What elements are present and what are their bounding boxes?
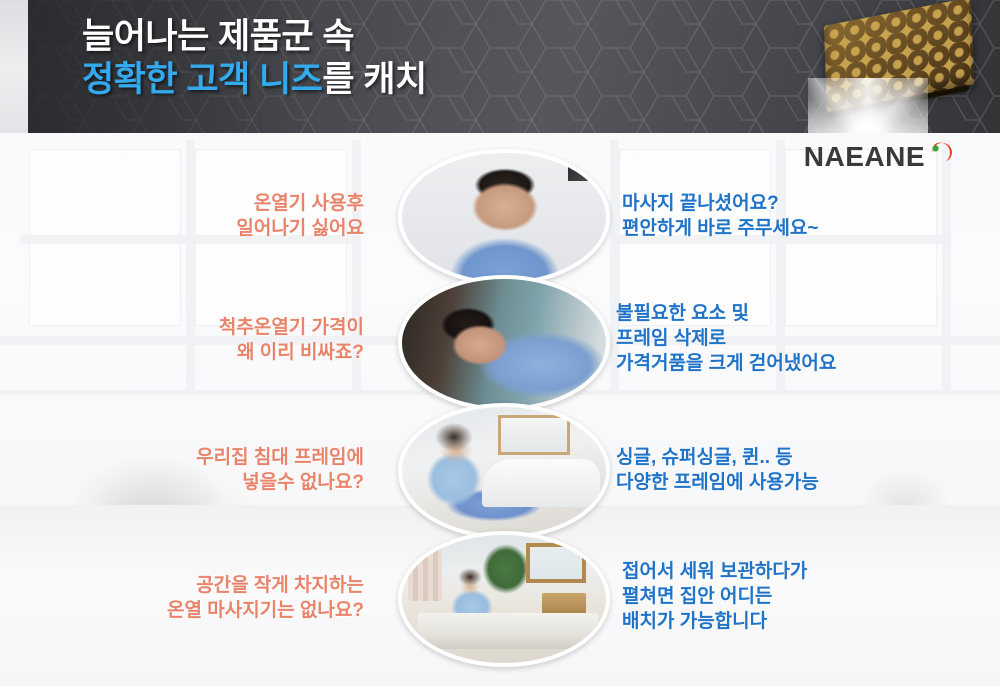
- photo-oval-3: [398, 403, 610, 539]
- question-text-4: 공간을 작게 차지하는 온열 마사지기는 없나요?: [44, 573, 364, 623]
- answer-text-3: 싱글, 슈퍼싱글, 퀸.. 등 다양한 프레임에 사용가능: [616, 445, 956, 495]
- product-mattress-top: [824, 0, 974, 113]
- header-banner: 늘어나는 제품군 속 정확한 고객 니즈를 캐치: [28, 0, 1000, 133]
- photo-oval-4-image: [402, 535, 606, 663]
- header-title-line-2: 정확한 고객 니즈를 캐치: [82, 59, 427, 102]
- photo-oval-1-image: [402, 153, 606, 281]
- header-left-margin: [0, 0, 28, 133]
- slide-root: 늘어나는 제품군 속 정확한 고객 니즈를 캐치 NAEANE 온열기 사용후 …: [0, 0, 1000, 692]
- header-title-suffix: 를 캐치: [322, 60, 426, 99]
- answer-text-4: 접어서 세워 보관하다가 펼쳐면 집안 어디든 배치가 가능합니다: [622, 559, 952, 634]
- photo-oval-3-image: [402, 407, 606, 535]
- photo-oval-4-curtain: [408, 539, 442, 601]
- question-text-2: 척추온열기 가격이 왜 이리 비싸죠?: [94, 315, 364, 365]
- qa-row-4: 공간을 작게 차지하는 온열 마사지기는 없나요? 접어서 세워 보관하다가 펼…: [0, 531, 1000, 659]
- photo-oval-1: [398, 149, 610, 285]
- brand-logo: NAEANE: [804, 141, 954, 173]
- photo-oval-4-wood-box: [542, 593, 586, 615]
- qa-rows-container: 온열기 사용후 일어나기 싫어요 마사지 끝나셨어요? 편안하게 바로 주무세요…: [0, 133, 1000, 692]
- answer-text-1: 마사지 끝나셨어요? 편안하게 바로 주무세요~: [622, 191, 952, 241]
- brand-logo-text: NAEANE: [804, 141, 925, 173]
- product-mattress-image: [802, 2, 992, 130]
- header-title-line-1: 늘어나는 제품군 속: [82, 16, 427, 59]
- photo-oval-2-image: [402, 279, 606, 407]
- photo-oval-4: [398, 531, 610, 667]
- qa-row-2: 척추온열기 가격이 왜 이리 비싸죠? 불필요한 요소 및 프레임 삭제로 가격…: [0, 275, 1000, 403]
- crescent-swoosh-icon: [926, 139, 954, 167]
- photo-oval-2: [398, 275, 610, 411]
- answer-text-2: 불필요한 요소 및 프레임 삭제로 가격거품을 크게 걷어냈어요: [616, 301, 976, 376]
- qa-row-3: 우리집 침대 프레임에 넣을수 없나요? 싱글, 슈퍼싱글, 퀸.. 등 다양한…: [0, 403, 1000, 531]
- question-text-1: 온열기 사용후 일어나기 싫어요: [104, 191, 364, 241]
- header-title-highlight: 정확한 고객 니즈: [82, 60, 322, 99]
- header-title-block: 늘어나는 제품군 속 정확한 고객 니즈를 캐치: [82, 16, 427, 101]
- question-text-3: 우리집 침대 프레임에 넣을수 없나요?: [64, 445, 364, 495]
